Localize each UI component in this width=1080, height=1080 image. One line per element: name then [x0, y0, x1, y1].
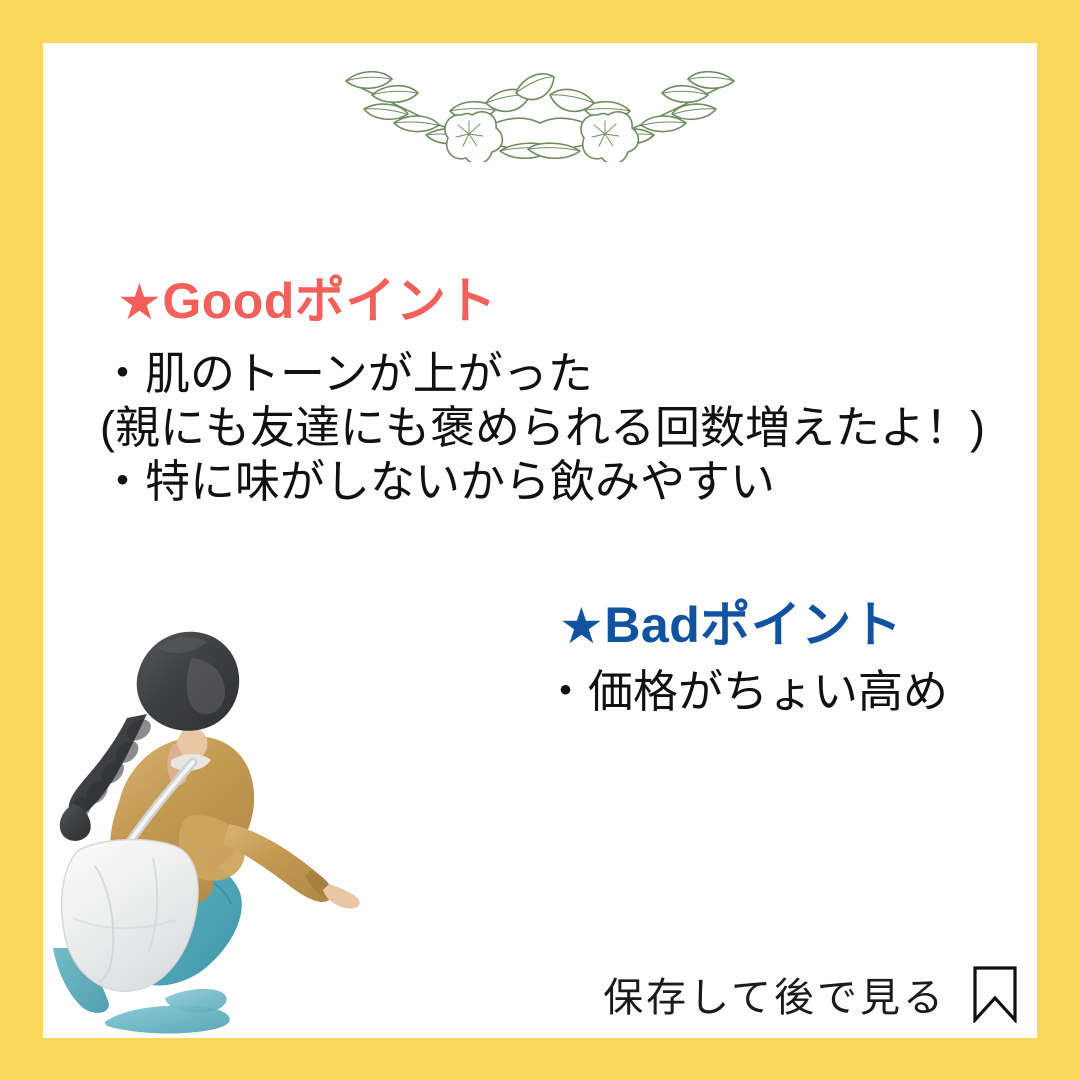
bad-point-heading: ★Badポイント — [559, 585, 902, 657]
good-point-heading-label: Goodポイント — [162, 273, 497, 329]
good-point-line-2: (親にも友達にも褒められる回数増えたよ！) — [100, 401, 985, 455]
floral-swag-ornament — [320, 57, 760, 162]
bad-point-heading-label: Badポイント — [604, 597, 902, 653]
good-point-body: ・肌のトーンが上がった (親にも友達にも褒められる回数増えたよ！) ・特に味がし… — [100, 347, 985, 509]
content-panel: ★Goodポイント ・肌のトーンが上がった (親にも友達にも褒められる回数増えた… — [43, 43, 1037, 1038]
star-icon-red: ★ — [117, 273, 162, 331]
good-point-line-3: ・特に味がしないから飲みやすい — [100, 455, 985, 509]
poster-frame: ★Goodポイント ・肌のトーンが上がった (親にも友達にも褒められる回数増えた… — [0, 0, 1080, 1080]
bad-point-line-1: ・価格がちょい高め — [543, 665, 948, 719]
good-point-line-1: ・肌のトーンが上がった — [100, 347, 985, 401]
bad-point-body: ・価格がちょい高め — [543, 665, 948, 719]
save-for-later[interactable]: 保存して後で見る — [603, 965, 1018, 1023]
crouching-girl-illustration — [43, 618, 403, 1038]
star-icon-blue: ★ — [559, 597, 604, 655]
good-point-heading: ★Goodポイント — [117, 261, 497, 333]
bookmark-icon[interactable] — [972, 965, 1018, 1023]
save-for-later-label: 保存して後で見る — [603, 965, 946, 1023]
